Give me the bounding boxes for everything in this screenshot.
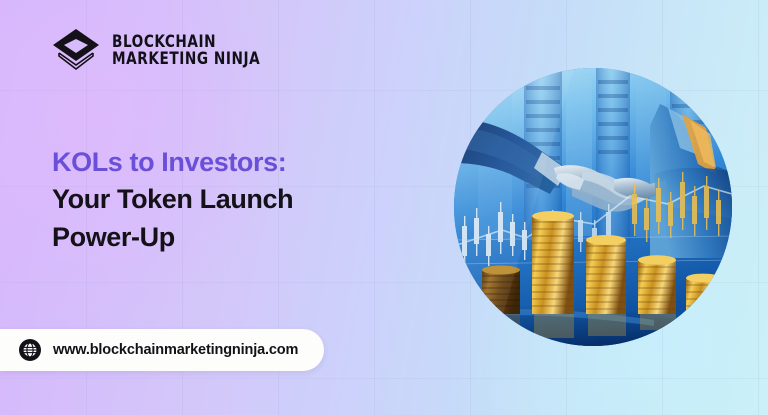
brand-logo[interactable]: BLOCKCHAIN MARKETING NINJA <box>50 26 273 76</box>
headline-line-3: Power-Up <box>52 219 382 256</box>
brand-logo-line-2: MARKETING NINJA <box>112 51 260 68</box>
hero-image-circle <box>454 68 732 346</box>
coin-stack-5 <box>686 274 720 316</box>
website-url-bar[interactable]: www.blockchainmarketingninja.com <box>0 329 324 371</box>
diamond-layers-icon <box>50 26 102 76</box>
brand-logo-text: BLOCKCHAIN MARKETING NINJA <box>112 34 273 68</box>
promo-banner: BLOCKCHAIN MARKETING NINJA KOLs to Inves… <box>0 0 768 415</box>
headline-line-2: Your Token Launch <box>52 181 382 218</box>
headline-line-1: KOLs to Investors: <box>52 144 382 181</box>
coin-stack-2 <box>532 211 574 314</box>
headline: KOLs to Investors: Your Token Launch Pow… <box>52 144 382 256</box>
globe-icon <box>18 338 42 362</box>
website-url-text: www.blockchainmarketingninja.com <box>53 342 298 358</box>
coin-stack-4 <box>638 255 676 314</box>
coin-stack-3 <box>586 235 626 314</box>
handshake-coins-chart-illustration <box>454 68 732 346</box>
